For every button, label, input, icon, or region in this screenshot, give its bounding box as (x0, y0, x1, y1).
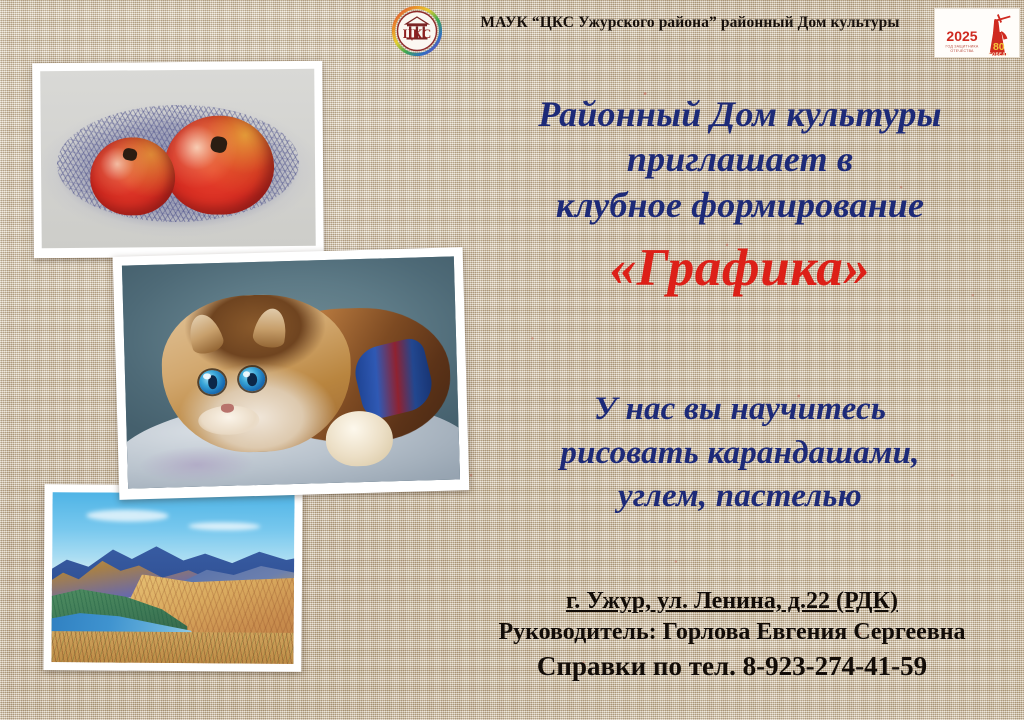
photo-mountain-landscape (43, 484, 302, 672)
learn-line-1: У нас вы научитесь (460, 388, 1020, 432)
organization-title: МАУК “ЦКС Ужурского района” районный Дом… (455, 14, 925, 32)
landscape-foreground-grass (51, 632, 293, 664)
kitten-paw (325, 410, 393, 468)
badge-subtitle-line2: ОТЕЧЕСТВА (950, 49, 974, 53)
invitation-line-3: клубное формирование (460, 183, 1020, 228)
apple-large (164, 115, 274, 215)
contact-phone: Справки по тел. 8-923-274-41-59 (440, 649, 1024, 684)
club-name-title: «Графика» (460, 240, 1020, 297)
learn-block: У нас вы научитесь рисовать карандашами,… (460, 388, 1020, 519)
learn-line-3: углем, пастелью (460, 475, 1020, 519)
contact-leader: Руководитель: Горлова Евгения Сергеевна (440, 617, 1024, 649)
learn-line-2: рисовать карандашами, (460, 432, 1020, 476)
artwork-kitten (122, 256, 460, 488)
photo-kitten-portrait (113, 247, 470, 500)
photo-still-life-apples (32, 61, 324, 259)
header-bar: ЦКС МАУК “ЦКС Ужурского района” районный… (0, 0, 1024, 62)
cks-emblem-icon: ЦКС (392, 6, 442, 56)
invitation-line-1: Районный Дом культуры (460, 92, 1020, 137)
invitation-line-2: приглашает в (460, 137, 1020, 182)
kitten-eye-left (199, 370, 225, 395)
contact-address: г. Ужур, ул. Ленина, д.22 (РДК) (440, 586, 1024, 617)
badge-anniversary-label: ПОБЕДА (989, 51, 1009, 56)
kitten-ear-right (251, 306, 290, 351)
svg-text:ЦКС: ЦКС (403, 26, 432, 41)
artwork-apples (40, 69, 316, 248)
kitten-ear-left (184, 310, 226, 357)
artwork-landscape (51, 492, 294, 664)
poster-canvas: ЦКС МАУК “ЦКС Ужурского района” районный… (0, 0, 1024, 720)
kitten-eye-right (239, 367, 265, 392)
contact-block: г. Ужур, ул. Ленина, д.22 (РДК) Руководи… (440, 586, 1024, 684)
badge-year: 2025 (946, 28, 977, 44)
victory-anniversary-badge: 80 ПОБЕДА 2025 ГОД ЗАЩИТНИКА ОТЕЧЕСТВА (934, 8, 1020, 58)
invitation-block: Районный Дом культуры приглашает в клубн… (460, 92, 1020, 297)
